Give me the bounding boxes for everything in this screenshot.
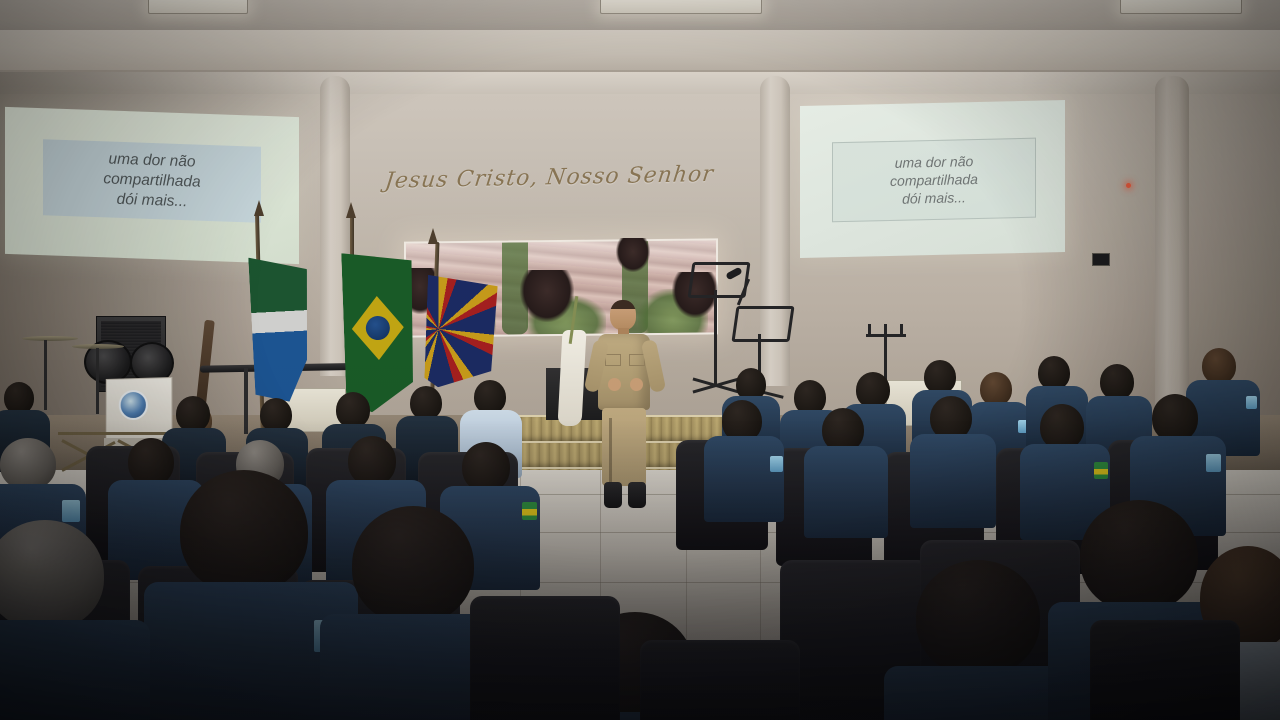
ceiling-light-fixture <box>148 0 248 14</box>
presenter-boot <box>628 482 646 508</box>
slide-line: dói mais... <box>902 188 966 208</box>
mic-stand-pole <box>244 368 248 434</box>
chair <box>640 640 800 720</box>
wall-cornice <box>0 30 1280 72</box>
cymbal-stand <box>96 348 99 414</box>
presenter-hand <box>630 378 643 391</box>
slide-line: compartilhada <box>890 170 978 190</box>
cymbal <box>22 336 78 341</box>
presenter-speaker <box>588 300 662 515</box>
presenter-head <box>610 300 636 330</box>
flagpole-spear-icon <box>428 228 438 244</box>
ceiling-light-fixture <box>1120 0 1242 14</box>
right-slide-text-box: uma dor não compartilhada dói mais... <box>832 138 1036 223</box>
no-flash-sign-icon <box>1092 253 1110 266</box>
plant-silhouette <box>616 238 650 272</box>
ceiling-light-fixture <box>600 0 762 14</box>
stage-vase <box>557 330 586 426</box>
chair <box>470 596 620 720</box>
indicator-led-icon <box>1126 183 1131 188</box>
flag-unit-banner <box>424 275 498 389</box>
lectern-emblem-icon <box>119 390 148 420</box>
flagpole-spear-icon <box>346 202 356 218</box>
slide-line: uma dor não <box>895 152 974 172</box>
left-slide-text-box: uma dor não compartilhada dói mais... <box>43 139 261 223</box>
right-projection-screen: uma dor não compartilhada dói mais... <box>800 100 1065 258</box>
slide-line: dói mais... <box>117 190 188 213</box>
photo-scene: uma dor não compartilhada dói mais... um… <box>0 0 1280 720</box>
chair <box>1090 620 1240 720</box>
presenter-boot <box>604 482 622 508</box>
cymbal-stand <box>44 340 47 410</box>
presenter-hand <box>608 378 621 391</box>
flagpole-spear-icon <box>254 200 264 216</box>
plant-silhouette <box>520 270 574 322</box>
